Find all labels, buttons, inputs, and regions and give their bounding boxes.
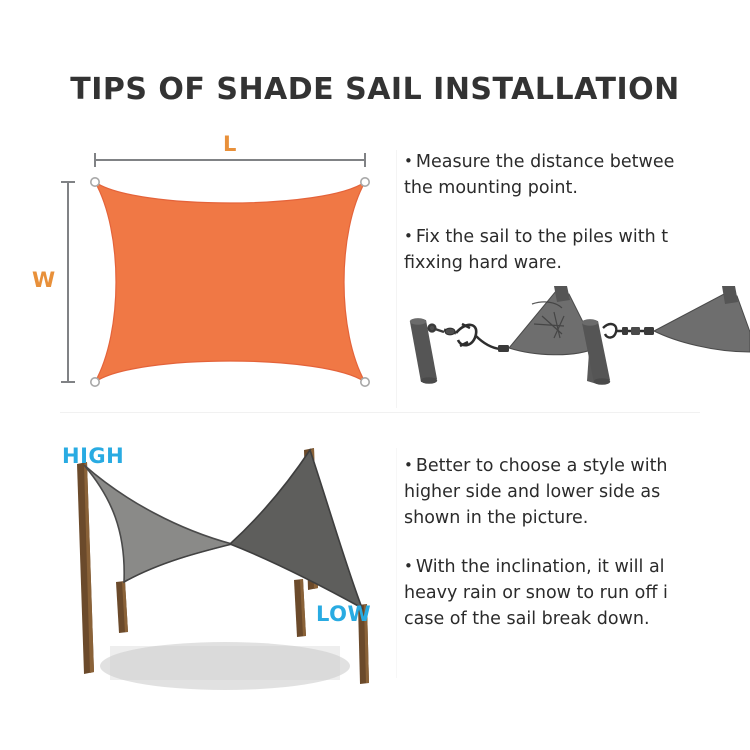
chain-link-left: [498, 345, 509, 352]
grommet-bottom-left: [91, 378, 99, 386]
chain-left: [476, 336, 500, 349]
tip-item: •With the inclination, it will al heavy …: [404, 553, 750, 632]
page-title: TIPS OF SHADE SAIL INSTALLATION: [0, 72, 750, 107]
column-divider-bottom: [396, 448, 397, 678]
shade-sail-light-gray: [84, 465, 232, 582]
tip-item: •Fix the sail to the piles with t fixxin…: [404, 223, 750, 276]
infographic-page: TIPS OF SHADE SAIL INSTALLATION: [0, 0, 750, 750]
hardware-left-diagram: [410, 286, 601, 384]
turnbuckle-left: [444, 328, 456, 335]
tip-item: •Measure the distance betwee the mountin…: [404, 148, 750, 201]
pole-high-left: [77, 462, 94, 674]
sail-dimension-diagram: L W: [40, 140, 396, 402]
length-label: L: [223, 132, 236, 156]
ground-shadow-band: [110, 646, 340, 680]
carabiner-left: [456, 324, 476, 346]
hardware-svg: [404, 286, 750, 398]
pole-short-middle: [116, 581, 128, 633]
tip-line: Fix the sail to the piles with t: [416, 227, 668, 247]
column-divider-top: [396, 150, 397, 408]
hardware-right-diagram: [582, 286, 750, 385]
slope-illustration-svg: [40, 440, 396, 702]
bullet-icon: •: [404, 557, 416, 575]
grommet-top-left: [91, 178, 99, 186]
turnbuckle-right: [616, 327, 644, 335]
hardware-diagrams: [404, 286, 750, 398]
tip-line: Better to choose a style with: [416, 456, 668, 476]
bullet-icon: •: [404, 456, 416, 474]
bullet-icon: •: [404, 152, 416, 170]
section-divider-horizontal: [60, 412, 700, 413]
high-label: HIGH: [62, 444, 124, 468]
tip-line: case of the sail break down.: [404, 606, 750, 632]
low-label: LOW: [316, 602, 371, 626]
tips-top-list: •Measure the distance betwee the mountin…: [404, 148, 750, 288]
pole-low-right: [294, 579, 306, 637]
shade-sail-corner-right: [654, 294, 750, 352]
tip-line: the mounting point.: [404, 175, 750, 201]
tip-line: With the inclination, it will al: [416, 557, 665, 577]
orange-shade-sail-shape: [95, 182, 365, 382]
tip-line: shown in the picture.: [404, 505, 750, 531]
tips-bottom-list: •Better to choose a style with higher si…: [404, 452, 750, 652]
tip-line: higher side and lower side as: [404, 479, 750, 505]
tip-line: fixxing hard ware.: [404, 250, 750, 276]
eye-bolt-left: [429, 325, 444, 332]
snap-hook-right: [603, 324, 616, 337]
tip-item: •Better to choose a style with higher si…: [404, 452, 750, 531]
tip-line: Measure the distance betwee: [416, 152, 675, 172]
grommet-bottom-right: [361, 378, 369, 386]
bullet-icon: •: [404, 227, 416, 245]
tip-line: heavy rain or snow to run off i: [404, 580, 750, 606]
grommet-top-right: [361, 178, 369, 186]
chain-link-right: [644, 327, 654, 335]
sail-dimension-svg: [40, 140, 396, 402]
width-label: W: [32, 268, 55, 292]
slope-illustration: HIGH LOW: [40, 440, 396, 702]
width-dimension-line: [61, 182, 75, 382]
